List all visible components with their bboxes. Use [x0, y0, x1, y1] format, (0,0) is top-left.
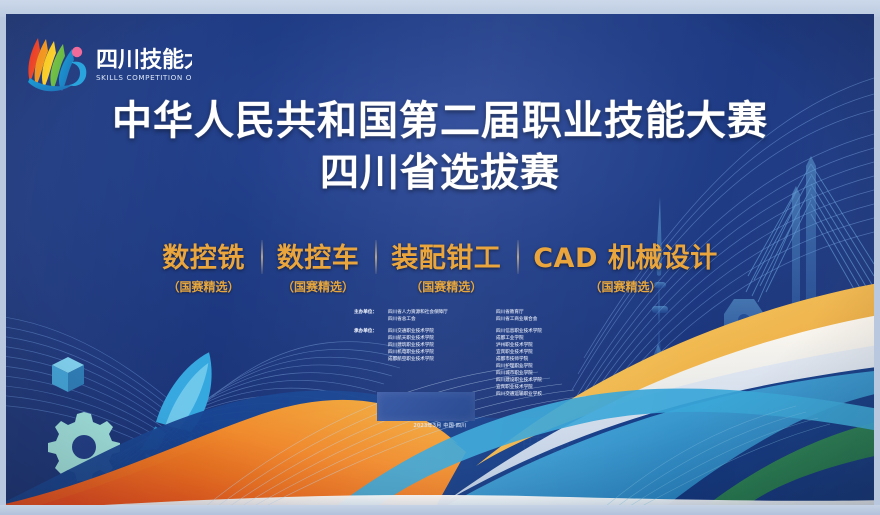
host-item: 四川省人力资源和社会保障厅 [388, 310, 496, 317]
cohost-item: 宜宾职业技术学院 [496, 350, 592, 357]
cohost-item: 宜宾职业技术学院 [496, 385, 592, 392]
cohost-item: 四川护理职业学院 [496, 364, 592, 371]
category-name: 装配钳工 [391, 236, 501, 275]
blank-overlay-panel [377, 392, 475, 421]
category-name: CAD 机械设计 [533, 236, 718, 275]
category-name: 数控铣 [162, 236, 245, 275]
logo-en-name: SKILLS COMPETITION OF SICHUAN [96, 73, 192, 82]
host-item: 四川省总工会 [388, 317, 496, 324]
cohost-item: 四川交通职业技术学院 [388, 329, 496, 336]
category-item-4: CAD 机械设计 （国赛精选） [517, 236, 734, 295]
cohost-item: 四川信息职业技术学院 [496, 329, 592, 336]
cohost-column-1: 四川交通职业技术学院 四川航天职业技术学院 四川建筑职业技术学院 四川机电职业技… [388, 329, 496, 399]
cohost-column-2: 四川信息职业技术学院 成都工业学院 泸州职业技术学院 宜宾职业技术学院 成都市技… [496, 329, 592, 399]
cohost-item: 泸州职业技术学院 [496, 343, 592, 350]
host-item: 四川省工商业联合会 [496, 317, 592, 324]
cohost-item: 四川城市职业学院 [496, 371, 592, 378]
cohost-item: 四川建设职业技术学院 [496, 378, 592, 385]
title-line-2: 四川省选拔赛 [6, 153, 874, 195]
host-column-1: 四川省人力资源和社会保障厅 四川省总工会 [388, 310, 496, 324]
category-subtitle: （国赛精选） [277, 278, 360, 295]
sichuan-skills-competition-logo: 四川技能大赛 SKILLS COMPETITION OF SICHUAN [22, 32, 192, 94]
title-line-1: 中华人民共和国第二届职业技能大赛 [6, 100, 874, 143]
host-label: 主办单位： [354, 310, 388, 324]
cohost-item: 四川机电职业技术学院 [388, 350, 496, 357]
category-item-1: 数控铣 （国赛精选） [146, 236, 261, 295]
cohost-row: 承办单位： 四川交通职业技术学院 四川航天职业技术学院 四川建筑职业技术学院 四… [354, 329, 654, 399]
logo-cn-name: 四川技能大赛 [96, 47, 192, 73]
logo-feather-mark [28, 38, 74, 91]
backdrop-board: 四川技能大赛 SKILLS COMPETITION OF SICHUAN 中华人… [6, 14, 874, 506]
backdrop-bottom-edge [0, 505, 880, 515]
cohost-item: 四川交通运输职业学校 [496, 392, 592, 399]
category-subtitle: （国赛精选） [391, 278, 501, 295]
host-column-2: 四川省教育厅 四川省工商业联合会 [496, 310, 592, 324]
organizer-block: 主办单位： 四川省人力资源和社会保障厅 四川省总工会 四川省教育厅 四川省工商业… [354, 310, 654, 404]
category-item-3: 装配钳工 （国赛精选） [375, 236, 517, 295]
category-subtitle: （国赛精选） [162, 278, 245, 295]
banner-title: 中华人民共和国第二届职业技能大赛 四川省选拔赛 [6, 100, 874, 195]
cohost-item: 四川航天职业技术学院 [388, 336, 496, 343]
poster-backdrop: 四川技能大赛 SKILLS COMPETITION OF SICHUAN 中华人… [0, 0, 880, 515]
cohost-item: 成都市技师学院 [496, 357, 592, 364]
cohost-item: 成都工业学院 [496, 336, 592, 343]
svg-text:四川技能大赛: 四川技能大赛 [96, 47, 192, 73]
category-subtitle: （国赛精选） [533, 278, 718, 295]
cohost-item: 成都航空职业技术学院 [388, 357, 496, 364]
host-row: 主办单位： 四川省人力资源和社会保障厅 四川省总工会 四川省教育厅 四川省工商业… [354, 310, 654, 324]
competition-categories: 数控铣 （国赛精选） 数控车 （国赛精选） 装配钳工 （国赛精选） CAD 机械… [6, 236, 874, 295]
host-item: 四川省教育厅 [496, 310, 592, 317]
cohost-item: 四川建筑职业技术学院 [388, 343, 496, 350]
svg-text:SKILLS COMPETITION OF SICHUAN: SKILLS COMPETITION OF SICHUAN [96, 73, 192, 82]
date-location-stamp: 2023年3月 中国·四川 [6, 422, 874, 429]
category-name: 数控车 [277, 236, 360, 275]
category-item-2: 数控车 （国赛精选） [261, 236, 376, 295]
cohost-label: 承办单位： [354, 329, 388, 399]
